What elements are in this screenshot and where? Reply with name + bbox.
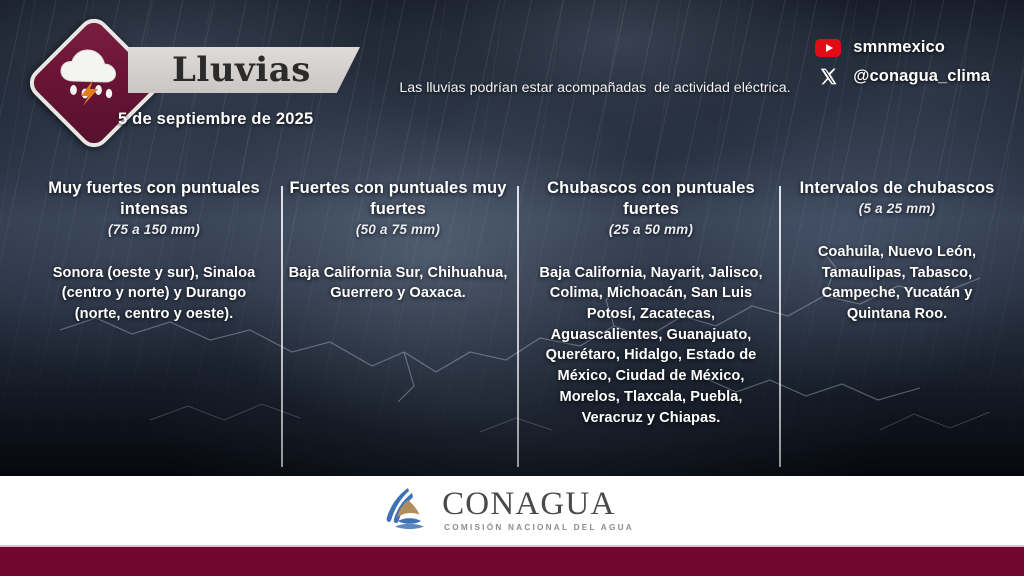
- x-handle: @conagua_clima: [853, 67, 990, 86]
- category-heading: Chubascos con puntuales fuertes: [532, 178, 770, 220]
- social-link-youtube[interactable]: smnmexico: [815, 38, 945, 57]
- category-regions: Sonora (oeste y sur), Sinaloa (centro y …: [38, 263, 270, 325]
- rain-category-column: Fuertes con puntuales muy fuertes (50 a …: [288, 178, 508, 304]
- category-heading: Fuertes con puntuales muy fuertes: [288, 178, 508, 220]
- conagua-logo: CONAGUA COMISIÓN NACIONAL DEL AGUA: [378, 486, 634, 535]
- infographic-root: Lluvias 5 de septiembre de 2025 Las lluv…: [0, 0, 1024, 576]
- rain-category-column: Chubascos con puntuales fuertes (25 a 50…: [532, 178, 770, 428]
- category-regions: Baja California Sur, Chihuahua, Guerrero…: [288, 263, 508, 304]
- category-range: (50 a 75 mm): [288, 222, 508, 237]
- category-regions: Coahuila, Nuevo León, Tamaulipas, Tabasc…: [790, 242, 1004, 325]
- footer-logo-band: CONAGUA COMISIÓN NACIONAL DEL AGUA: [0, 476, 1024, 545]
- social-link-x[interactable]: @conagua_clima: [815, 66, 990, 86]
- conagua-logo-subtitle: COMISIÓN NACIONAL DEL AGUA: [444, 524, 634, 532]
- storm-cloud-lightning-icon: [48, 36, 132, 120]
- category-range: (75 a 150 mm): [38, 222, 270, 237]
- conagua-logo-name: CONAGUA: [442, 488, 634, 521]
- rain-category-column: Muy fuertes con puntuales intensas (75 a…: [38, 178, 270, 325]
- category-regions: Baja California, Nayarit, Jalisco, Colim…: [532, 263, 770, 429]
- subtitle-note: Las lluvias podrían estar acompañadas de…: [380, 80, 810, 96]
- page-title: Lluvias: [172, 53, 311, 87]
- title-banner: Lluvias: [128, 47, 360, 93]
- rain-intensity-columns: Muy fuertes con puntuales intensas (75 a…: [0, 178, 1024, 474]
- conagua-logo-text: CONAGUA COMISIÓN NACIONAL DEL AGUA: [442, 488, 634, 532]
- youtube-icon: [815, 39, 841, 57]
- category-range: (25 a 50 mm): [532, 222, 770, 237]
- x-twitter-icon: [815, 66, 841, 86]
- social-links: smnmexico @conagua_clima: [815, 38, 990, 86]
- category-heading: Muy fuertes con puntuales intensas: [38, 178, 270, 220]
- category-range: (5 a 25 mm): [790, 201, 1004, 216]
- youtube-handle: smnmexico: [853, 38, 945, 57]
- category-heading: Intervalos de chubascos: [790, 178, 1004, 199]
- conagua-eagle-water-logo-icon: [378, 486, 430, 535]
- date-label: 5 de septiembre de 2025: [118, 110, 313, 129]
- footer-accent-bar: [0, 547, 1024, 576]
- rain-category-column: Intervalos de chubascos (5 a 25 mm) Coah…: [790, 178, 1004, 325]
